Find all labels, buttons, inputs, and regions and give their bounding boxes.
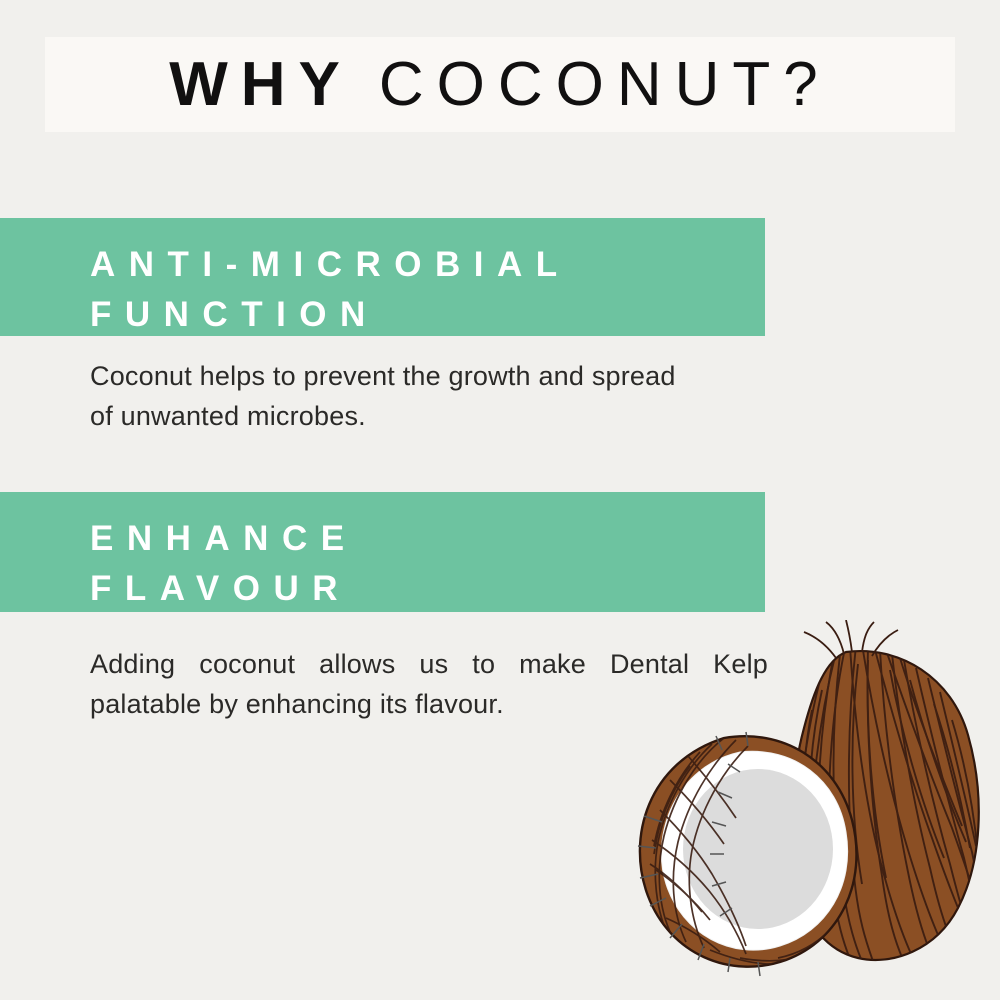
section-heading-line-2: FUNCTION: [90, 290, 765, 340]
section-banner-enhance-flavour: ENHANCE FLAVOUR: [0, 492, 765, 612]
section-body-line-1: Coconut helps to prevent the growth and …: [90, 356, 770, 396]
page-title-light: COCONUT?: [379, 54, 831, 116]
section-heading-line-1: ANTI-MICROBIAL: [90, 240, 765, 290]
section-body-line-2: of unwanted microbes.: [90, 396, 770, 436]
section-banner-anti-microbial: ANTI-MICROBIAL FUNCTION: [0, 218, 765, 336]
page-title-strong: WHY: [169, 54, 353, 116]
section-heading-line-1: ENHANCE: [90, 514, 765, 564]
section-heading-line-2: FLAVOUR: [90, 564, 765, 614]
section-body-anti-microbial: Coconut helps to prevent the growth and …: [90, 356, 770, 436]
page-title: WHYCOCONUT?: [169, 54, 831, 116]
poster-canvas: WHYCOCONUT? ANTI-MICROBIAL FUNCTION Coco…: [0, 0, 1000, 1000]
coconut-illustration: [600, 620, 1000, 1000]
title-bar: WHYCOCONUT?: [45, 37, 955, 132]
coconut-icon: [600, 620, 1000, 1000]
